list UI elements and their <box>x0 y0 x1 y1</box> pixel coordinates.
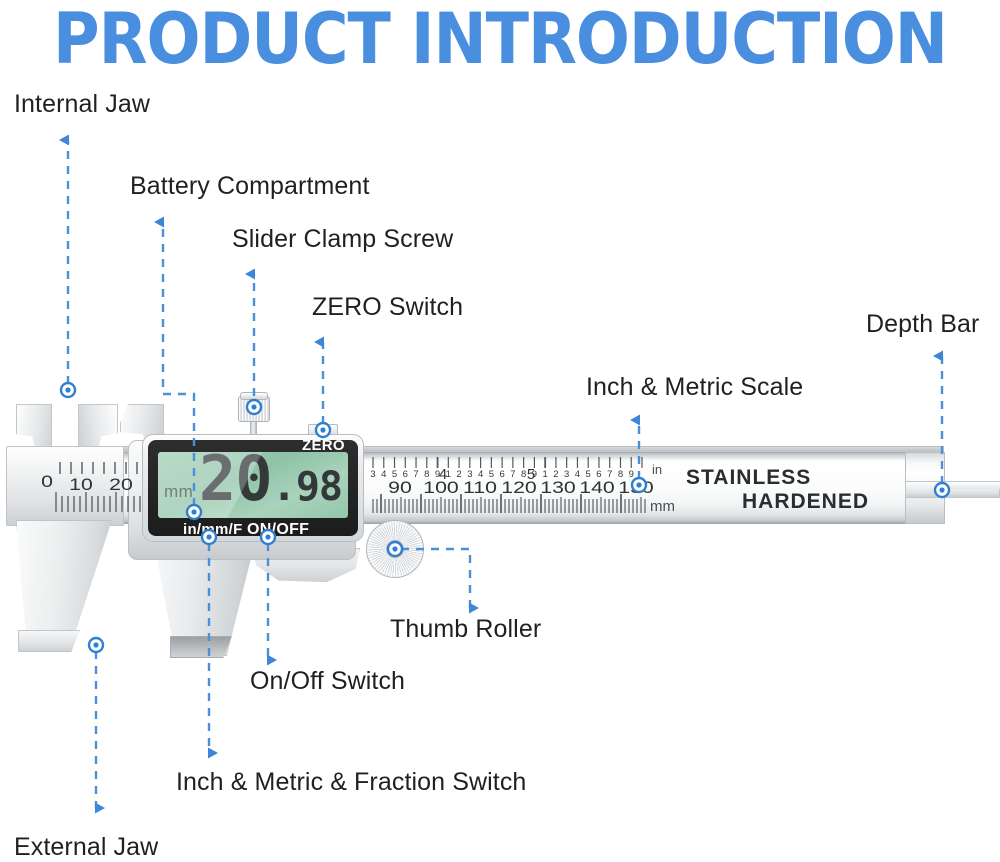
digital-caliper-illustration: mm 20 . 98 ZERO in/mm/F ON/OFF STAINLESS… <box>0 0 1000 860</box>
label-external-jaw: External Jaw <box>14 833 158 862</box>
scale-unit-mm: mm <box>650 498 675 515</box>
slider-clamp-screw-cap[interactable] <box>240 392 268 400</box>
lcd-screen: mm 20 . 98 <box>158 452 348 518</box>
label-thumb-roller: Thumb Roller <box>390 615 541 644</box>
jaw-scale-10: 10 <box>62 475 100 495</box>
zero-button-label[interactable]: ZERO <box>302 437 345 454</box>
label-unit-fraction-switch: Inch & Metric & Fraction Switch <box>176 768 526 797</box>
engraving-stainless: STAINLESS <box>686 466 811 490</box>
label-on-off-switch: On/Off Switch <box>250 667 405 696</box>
beam-scale-90: 90 <box>379 478 422 498</box>
unit-switch-label[interactable]: in/mm/F <box>183 521 243 538</box>
beam-scale-150: 150 <box>611 478 661 498</box>
depth-bar-step <box>948 481 1000 489</box>
beam-inch-5: 5 <box>524 466 538 483</box>
jaw-scale-0: 0 <box>33 472 61 492</box>
power-button-label[interactable]: ON/OFF <box>247 521 309 539</box>
label-internal-jaw: Internal Jaw <box>14 90 150 119</box>
label-battery-compartment: Battery Compartment <box>130 172 370 201</box>
label-slider-clamp-screw: Slider Clamp Screw <box>232 225 453 254</box>
external-jaw-fixed-tip <box>18 630 80 652</box>
jaw-scale-20: 20 <box>102 475 140 495</box>
external-jaw-movable-tip <box>170 636 232 658</box>
thumb-roller-hub <box>386 540 404 558</box>
label-depth-bar: Depth Bar <box>866 310 979 339</box>
label-zero-switch: ZERO Switch <box>312 293 463 322</box>
engraving-hardened: HARDENED <box>742 490 869 514</box>
label-inch-metric-scale: Inch & Metric Scale <box>586 373 803 402</box>
lcd-glare-overlay <box>158 452 348 518</box>
beam-inch-4: 4 <box>436 466 450 483</box>
scale-unit-inch: in <box>652 462 662 477</box>
